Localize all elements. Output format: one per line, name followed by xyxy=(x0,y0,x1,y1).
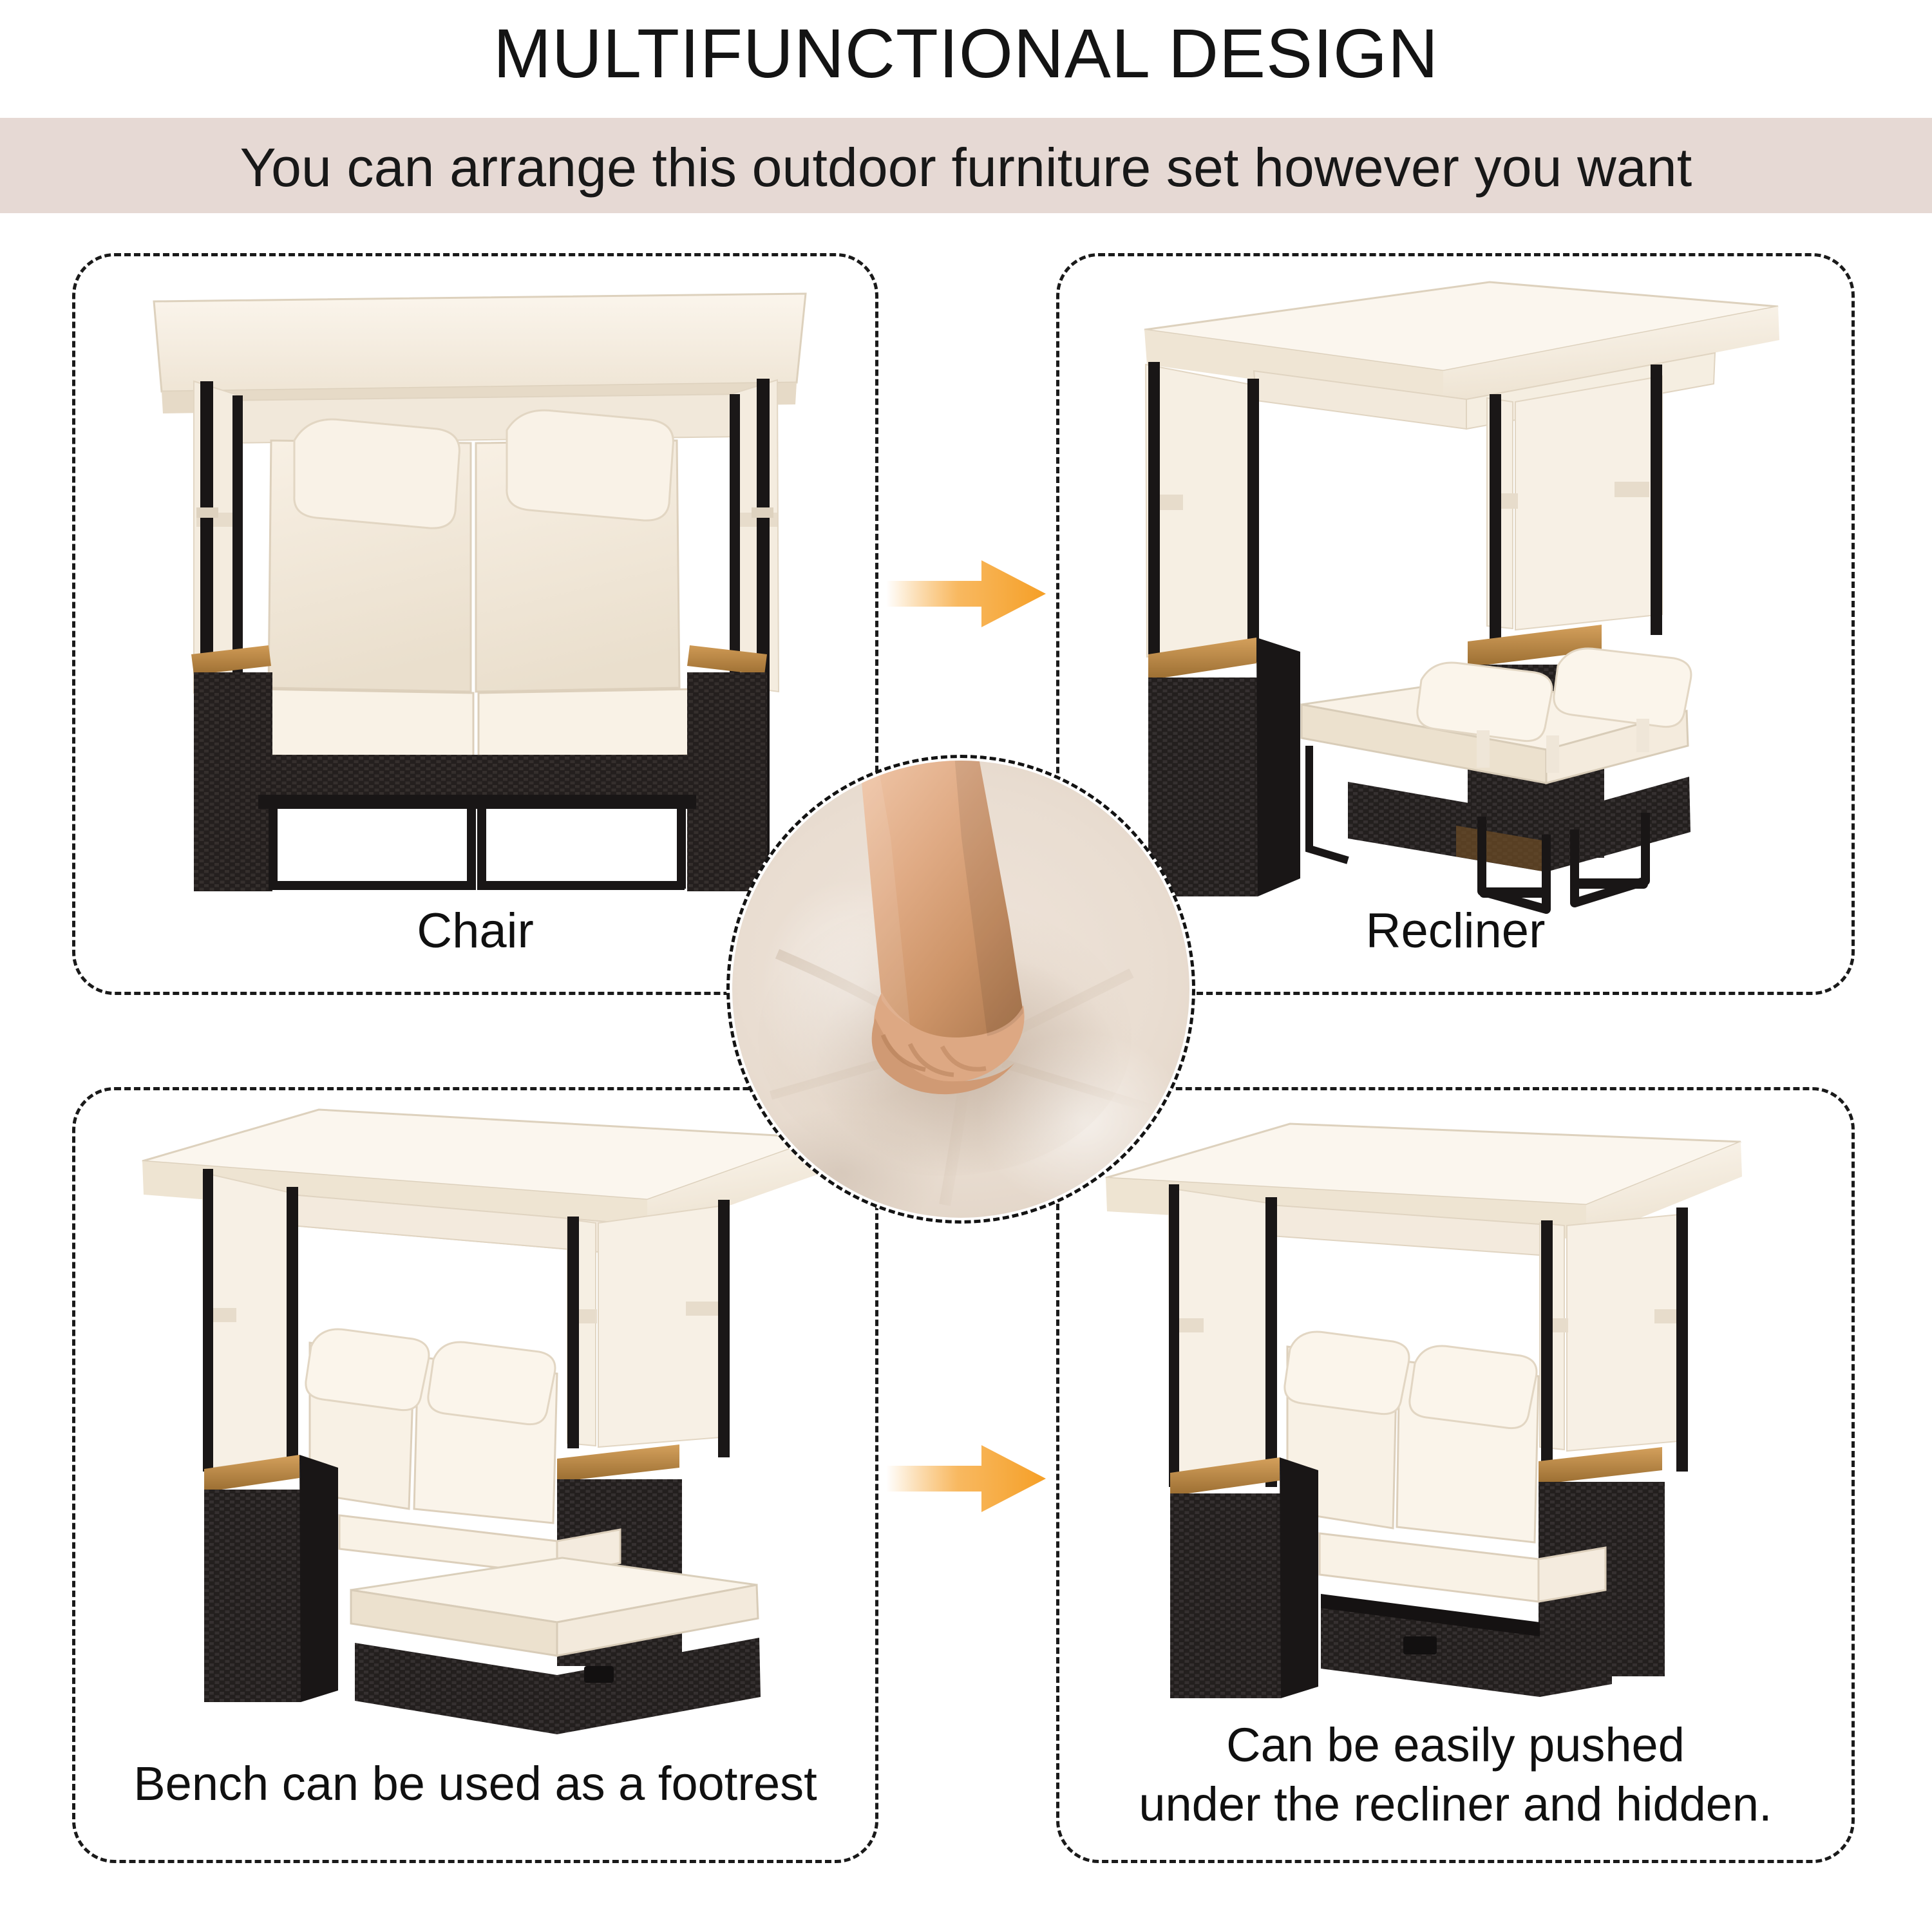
caption-line-2: under the recliner and hidden. xyxy=(1059,1775,1851,1834)
panel-caption-bench-tucked: Can be easily pushed under the recliner … xyxy=(1059,1716,1851,1834)
canopy-daybed-reclined-image xyxy=(1095,268,1817,918)
infographic-page: MULTIFUNCTIONAL DESIGN You can arrange t… xyxy=(0,0,1932,1932)
canopy-loveseat-bench-tucked-image xyxy=(1097,1097,1818,1715)
cushion-press-closeup xyxy=(726,755,1195,1224)
page-subtitle: You can arrange this outdoor furniture s… xyxy=(0,122,1932,213)
cushion-closeup-image xyxy=(732,761,1189,1218)
arrow-chair-to-recliner xyxy=(886,555,1047,632)
page-title: MULTIFUNCTIONAL DESIGN xyxy=(0,12,1932,95)
canopy-loveseat-with-ottoman-image xyxy=(106,1097,834,1741)
arrow-bench-to-tucked xyxy=(886,1440,1047,1517)
panel-caption-bench-footrest: Bench can be used as a footrest xyxy=(75,1754,875,1814)
caption-line-1: Can be easily pushed xyxy=(1226,1718,1685,1772)
canopy-loveseat-front-image xyxy=(132,268,828,912)
